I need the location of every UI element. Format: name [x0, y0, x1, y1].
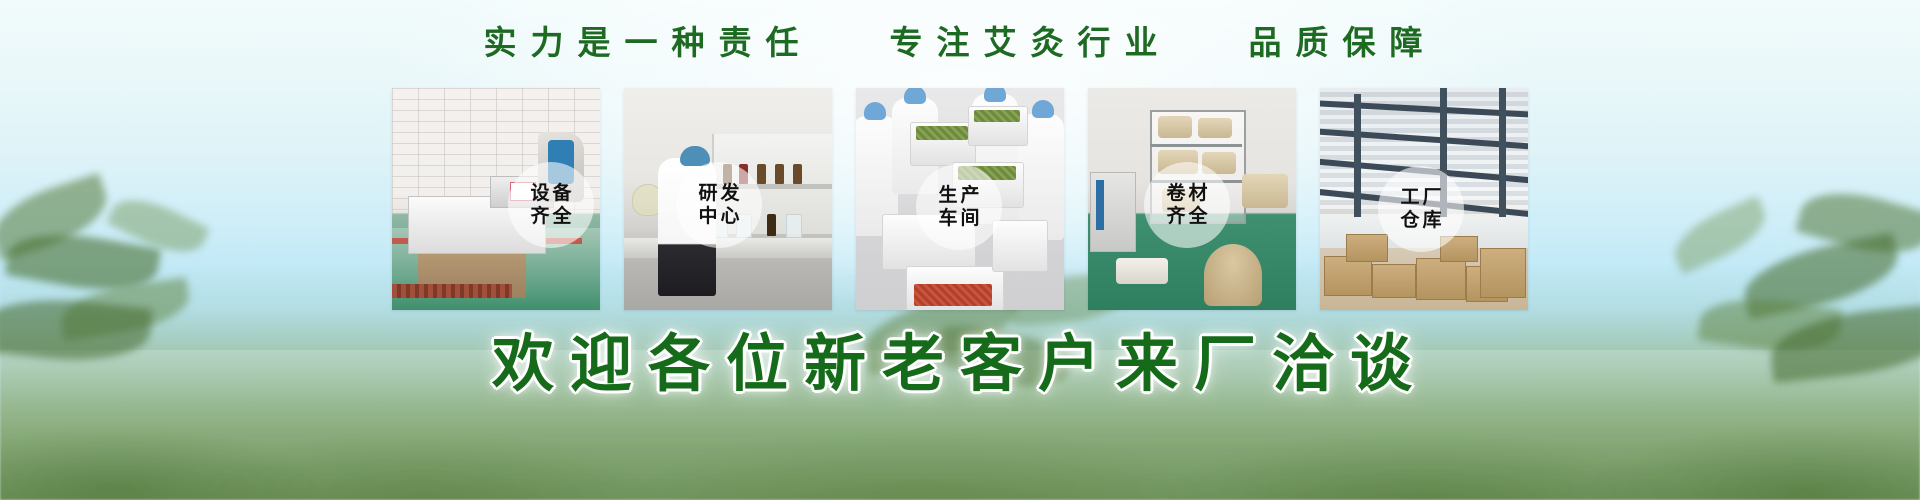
badge-line-1: 研发: [695, 182, 742, 205]
cardboard-box: [1372, 264, 1416, 298]
badge-line-2: 中心: [695, 205, 742, 228]
herb-material: [916, 126, 968, 140]
photo-rolls[interactable]: 卷材 齐全: [1088, 88, 1296, 310]
cardboard-box: [1416, 258, 1466, 300]
red-material: [914, 284, 992, 306]
paper-roll: [1158, 116, 1192, 138]
cardboard-box: [1346, 234, 1388, 262]
large-paper-roll: [1204, 244, 1262, 306]
photo-badge-workshop: 生产 车间: [916, 164, 1002, 250]
reagent-bottle: [793, 164, 802, 184]
badge-line-2: 齐全: [1163, 205, 1210, 228]
machine-column: [1096, 180, 1104, 230]
badge-line-2: 齐全: [527, 205, 574, 228]
bottom-headline: 欢迎各位新老客户来厂洽谈: [0, 322, 1920, 406]
reagent-bottle: [786, 214, 802, 238]
worker-cap: [984, 88, 1006, 102]
herb-material: [974, 110, 1020, 122]
conveyor-belt: [392, 284, 512, 298]
white-bin: [992, 220, 1048, 272]
top-headline-part-3: 品质保障: [1249, 23, 1437, 62]
photo-badge-warehouse: 工厂 仓库: [1378, 166, 1464, 252]
worker-cap: [1032, 100, 1054, 118]
badge-line-1: 设备: [527, 182, 574, 205]
badge-line-1: 生产: [935, 184, 982, 207]
factory-photo-strip: 设备 齐全: [0, 88, 1920, 310]
steel-column: [1499, 88, 1506, 238]
photo-badge-rnd: 研发 中心: [676, 162, 762, 248]
photo-badge-equipment: 设备 齐全: [508, 162, 594, 248]
photo-workshop[interactable]: 生产 车间: [856, 88, 1064, 310]
photo-warehouse[interactable]: 工厂 仓库: [1320, 88, 1528, 310]
cardboard-box: [1324, 256, 1372, 296]
badge-line-2: 仓库: [1397, 209, 1444, 232]
top-headline-part-1: 实力是一种责任: [484, 23, 813, 62]
top-headline-part-2: 专注艾灸行业: [890, 23, 1172, 62]
worker-cap: [904, 88, 926, 104]
paper-roll: [1198, 118, 1232, 138]
badge-line-1: 工厂: [1397, 186, 1444, 209]
reagent-bottle: [767, 214, 776, 236]
top-headline: 实力是一种责任 专注艾灸行业 品质保障: [0, 14, 1920, 72]
photo-badge-rolls: 卷材 齐全: [1144, 162, 1230, 248]
paper-roll: [1242, 174, 1288, 208]
badge-line-1: 卷材: [1163, 182, 1210, 205]
worker-cap: [864, 102, 886, 120]
cardboard-box: [1480, 248, 1526, 298]
reagent-bottle: [757, 164, 766, 184]
paper-roll: [1116, 258, 1168, 284]
steel-column: [1354, 94, 1361, 224]
photo-rnd[interactable]: 研发 中心: [624, 88, 832, 310]
photo-equipment[interactable]: 设备 齐全: [392, 88, 600, 310]
rack-shelf: [1150, 144, 1242, 147]
badge-line-2: 车间: [935, 207, 982, 230]
promotional-banner: 实力是一种责任 专注艾灸行业 品质保障 设备 齐全: [0, 0, 1920, 500]
reagent-bottle: [775, 164, 784, 184]
